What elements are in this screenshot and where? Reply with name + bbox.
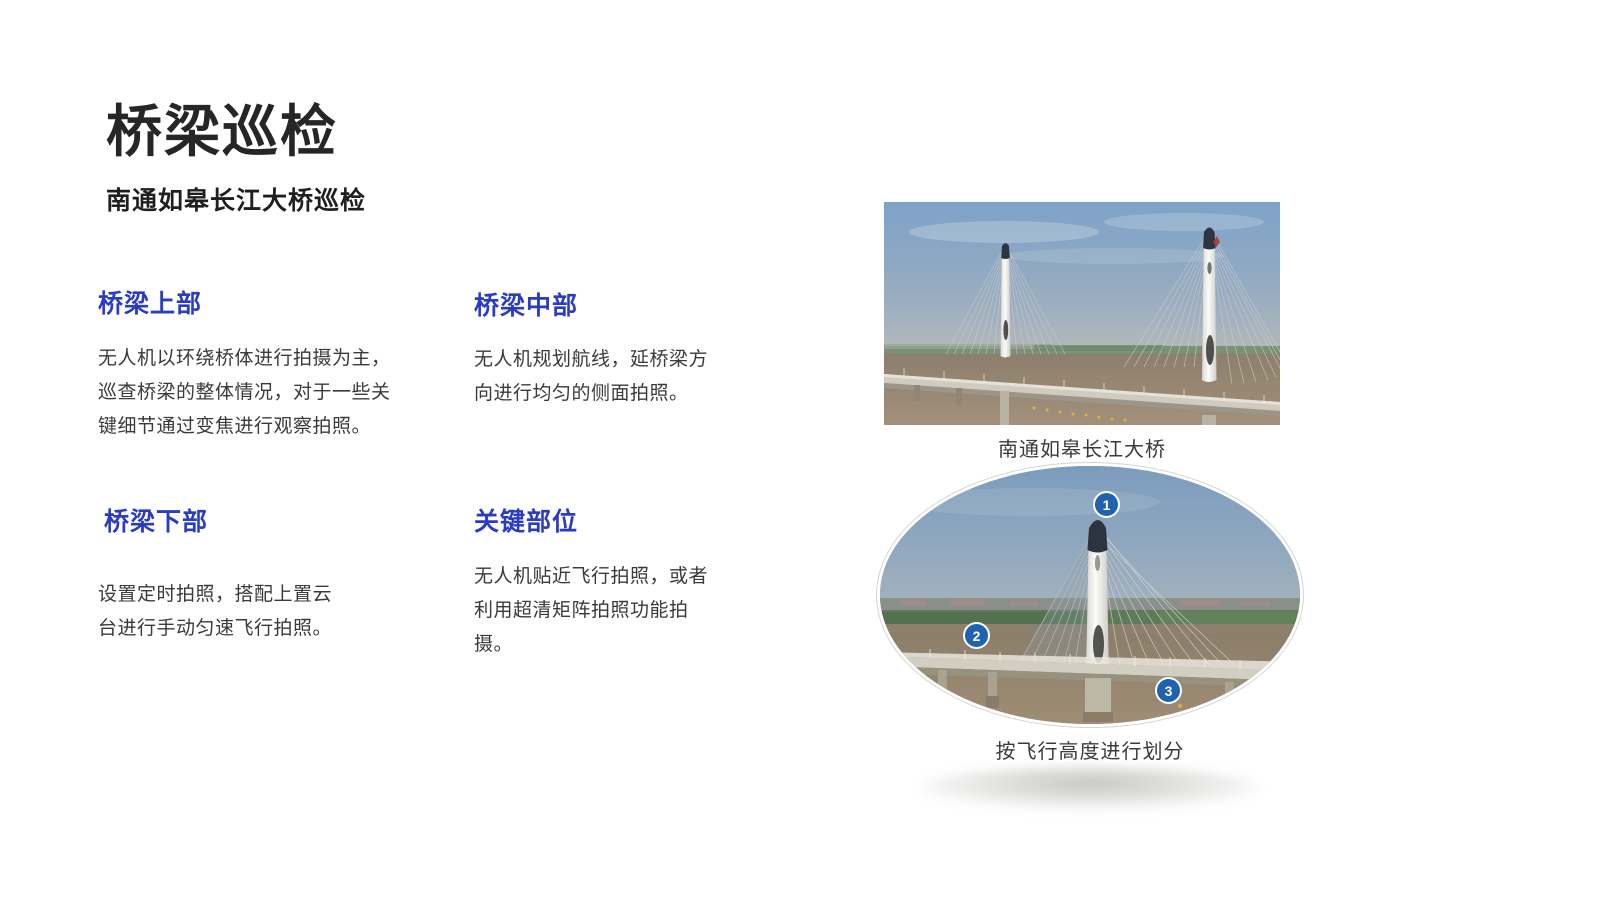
section-body-line: 无人机规划航线，延桥梁方 [474,343,734,377]
section-body-key-parts: 无人机贴近飞行拍照，或者 利用超清矩阵拍照功能拍 摄。 [474,560,734,662]
section-heading-key-parts: 关键部位 [474,506,734,538]
section-heading-bridge-middle: 桥梁中部 [474,290,734,322]
section-heading-bridge-upper: 桥梁上部 [98,288,418,320]
section-body-line: 键细节通过变焦进行观察拍照。 [98,410,418,444]
section-bridge-upper: 桥梁上部 无人机以环绕桥体进行拍摄为主， 巡查桥梁的整体情况，对于一些关 键细节… [98,288,418,444]
oval-drop-shadow [920,766,1260,810]
bridge-oval-photo-caption: 按飞行高度进行划分 [880,738,1300,766]
section-bridge-middle: 桥梁中部 无人机规划航线，延桥梁方 向进行均匀的侧面拍照。 [474,290,734,411]
section-body-line: 利用超清矩阵拍照功能拍 [474,594,734,628]
section-body-line: 摄。 [474,628,734,662]
section-key-parts: 关键部位 无人机贴近飞行拍照，或者 利用超清矩阵拍照功能拍 摄。 [474,506,734,662]
bridge-oval-photo [880,466,1300,724]
section-body-bridge-middle: 无人机规划航线，延桥梁方 向进行均匀的侧面拍照。 [474,343,734,411]
section-body-line: 设置定时拍照，搭配上置云 [98,578,404,612]
bridge-wide-photo [884,202,1280,425]
section-heading-bridge-lower: 桥梁下部 [104,506,404,538]
section-body-line: 向进行均匀的侧面拍照。 [474,377,734,411]
section-body-line: 无人机以环绕桥体进行拍摄为主， [98,342,418,376]
bridge-oval-photo-scene [880,466,1300,724]
page-title: 桥梁巡检 [106,100,338,164]
bridge-oval-figure: 1 2 3 [880,466,1300,724]
bridge-wide-photo-scene [884,202,1280,425]
section-body-bridge-lower: 设置定时拍照，搭配上置云 台进行手动匀速飞行拍照。 [98,578,404,646]
page-subtitle: 南通如皋长江大桥巡检 [106,184,366,218]
marker-bridge-middle[interactable]: 2 [963,622,990,649]
bridge-wide-photo-caption: 南通如皋长江大桥 [884,436,1280,464]
section-bridge-lower: 桥梁下部 设置定时拍照，搭配上置云 台进行手动匀速飞行拍照。 [104,506,404,646]
marker-bridge-upper[interactable]: 1 [1093,491,1120,518]
section-body-line: 无人机贴近飞行拍照，或者 [474,560,734,594]
section-body-bridge-upper: 无人机以环绕桥体进行拍摄为主， 巡查桥梁的整体情况，对于一些关 键细节通过变焦进… [98,342,418,444]
marker-bridge-lower[interactable]: 3 [1155,677,1182,704]
section-body-line: 巡查桥梁的整体情况，对于一些关 [98,376,418,410]
section-body-line: 台进行手动匀速飞行拍照。 [98,612,404,646]
